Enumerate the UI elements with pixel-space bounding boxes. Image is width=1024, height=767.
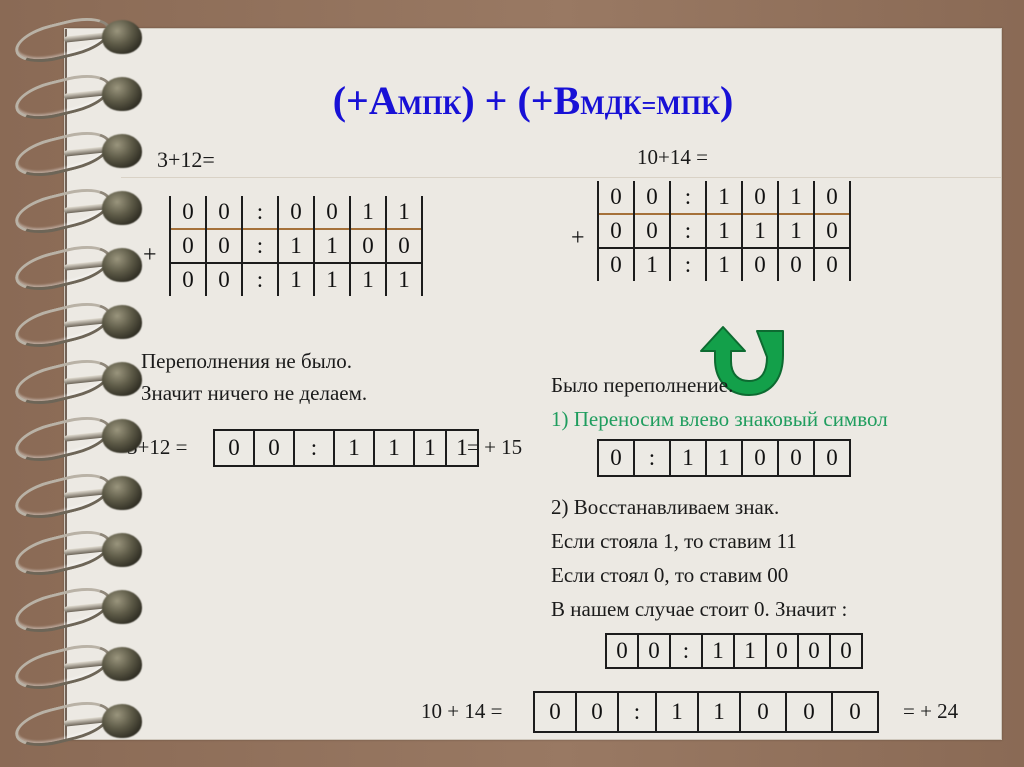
cell: 0 <box>598 181 634 214</box>
spiral-coil <box>6 299 126 357</box>
left-note-line-1: Переполнения не было. <box>141 349 352 374</box>
cell: 0 <box>215 431 255 465</box>
cell: 1 <box>350 263 386 296</box>
coil-wire <box>11 11 115 70</box>
right-step1-label: 1) Переносим влево знаковый символ <box>551 407 888 432</box>
cell: : <box>242 229 278 263</box>
cell: 1 <box>415 431 447 465</box>
left-heading: 3+12= <box>157 147 215 173</box>
spiral-coil <box>6 641 126 699</box>
cell: 0 <box>314 196 350 229</box>
cell: 0 <box>634 181 670 214</box>
right-addition-table: 0 0 : 1 0 1 0 0 0 : 1 1 1 0 <box>597 181 851 281</box>
coil-wire <box>11 125 115 184</box>
left-note-line-2: Значит ничего не делаем. <box>141 381 367 406</box>
right-step2-line-2: Если стояла 1, то ставим 11 <box>551 529 797 554</box>
left-addition-table: 0 0 : 0 0 1 1 0 0 : 1 1 0 0 <box>169 196 423 296</box>
coil-wire <box>11 239 115 298</box>
coil-wire <box>11 68 115 127</box>
right-result-label: 10 + 14 = <box>421 699 502 724</box>
coil-wire <box>11 581 115 640</box>
spiral-coil <box>6 128 126 186</box>
cell: : <box>295 431 335 465</box>
title-part-end: ) <box>720 78 733 123</box>
cell: 1 <box>314 263 350 296</box>
left-result-value: = + 15 <box>467 435 522 460</box>
cell: 0 <box>170 263 206 296</box>
coil-bead <box>102 476 142 510</box>
title-subscript-mpk: МПК <box>398 91 462 120</box>
page-title: (+АМПК) + (+ВМДК=МПК) <box>65 77 1001 124</box>
cell: 0 <box>799 635 831 667</box>
spiral-coil <box>6 470 126 528</box>
coil-bead <box>102 20 142 54</box>
cell: : <box>242 263 278 296</box>
title-part-mid: ) + (+В <box>461 78 580 123</box>
coil-wire <box>11 296 115 355</box>
cell: 0 <box>742 181 778 214</box>
right-result-value: = + 24 <box>903 699 958 724</box>
coil-wire <box>11 524 115 583</box>
spiral-coil <box>6 527 126 585</box>
cell: 1 <box>699 693 741 731</box>
coil-bead <box>102 590 142 624</box>
cell: 0 <box>598 248 634 281</box>
cell: 0 <box>779 441 815 475</box>
table-row: 0 0 : 1 1 1 1 <box>170 263 422 296</box>
coil-wire <box>11 638 115 697</box>
coil-wire <box>11 467 115 526</box>
right-overflow-note: Было переполнение. <box>551 373 733 398</box>
cell: 0 <box>743 441 779 475</box>
cell: : <box>635 441 671 475</box>
coil-bead <box>102 134 142 168</box>
cell: 1 <box>706 181 742 214</box>
cell: 1 <box>735 635 767 667</box>
right-heading: 10+14 = <box>637 145 708 170</box>
cell: 1 <box>703 635 735 667</box>
left-result-strip: 0 0 : 1 1 1 1 <box>213 429 479 467</box>
coil-wire <box>11 353 115 412</box>
cell: 0 <box>767 635 799 667</box>
cell: : <box>242 196 278 229</box>
cell: 0 <box>741 693 787 731</box>
cell: 1 <box>671 441 707 475</box>
left-plus-sign: + <box>143 242 157 269</box>
cell: 0 <box>350 229 386 263</box>
spiral-coil <box>6 584 126 642</box>
table-row: 0 1 : 1 0 0 0 <box>598 248 850 281</box>
cell: 0 <box>833 693 877 731</box>
coil-bead <box>102 305 142 339</box>
cell: 0 <box>742 248 778 281</box>
coil-bead <box>102 533 142 567</box>
cell: 0 <box>577 693 619 731</box>
header-divider <box>121 177 1001 178</box>
cell: 0 <box>814 181 850 214</box>
right-step2-line-4: В нашем случае стоит 0. Значит : <box>551 597 847 622</box>
cell: 0 <box>607 635 639 667</box>
cell: : <box>619 693 657 731</box>
title-subscript-mdk-mpk: МДК=МПК <box>580 91 720 120</box>
cell: 0 <box>206 196 242 229</box>
table-row: 0 0 : 1 0 1 0 <box>598 181 850 214</box>
cell: 1 <box>778 214 814 248</box>
cell: 0 <box>170 196 206 229</box>
cell: 1 <box>278 229 314 263</box>
cell: 0 <box>815 441 849 475</box>
cell: 1 <box>706 248 742 281</box>
cell: 1 <box>314 229 350 263</box>
coil-wire <box>11 695 115 754</box>
cell: 0 <box>386 229 422 263</box>
cell: : <box>670 214 706 248</box>
right-plus-sign: + <box>571 225 585 252</box>
cell: 1 <box>386 196 422 229</box>
cell: 0 <box>814 214 850 248</box>
coil-bead <box>102 647 142 681</box>
cell: 0 <box>787 693 833 731</box>
spiral-coil <box>6 185 126 243</box>
coil-bead <box>102 77 142 111</box>
coil-bead <box>102 362 142 396</box>
cell: : <box>671 635 703 667</box>
cell: 1 <box>278 263 314 296</box>
coil-bead <box>102 191 142 225</box>
cell: : <box>670 181 706 214</box>
table-row: 0 0 : 1 1 0 0 <box>170 229 422 263</box>
cell: 1 <box>706 214 742 248</box>
spiral-coil <box>6 71 126 129</box>
cell: 0 <box>278 196 314 229</box>
cell: 1 <box>375 431 415 465</box>
notebook-page: (+АМПК) + (+ВМДК=МПК) 3+12= + 0 0 : 0 0 … <box>64 28 1002 740</box>
cell: 1 <box>634 248 670 281</box>
title-part-a: (+А <box>333 78 398 123</box>
cell: 1 <box>335 431 375 465</box>
cell: 0 <box>255 431 295 465</box>
cell: 1 <box>386 263 422 296</box>
page-content: (+АМПК) + (+ВМДК=МПК) 3+12= + 0 0 : 0 0 … <box>65 29 1001 739</box>
coil-bead <box>102 419 142 453</box>
cell: 0 <box>598 214 634 248</box>
coil-bead <box>102 704 142 738</box>
cell: 0 <box>206 263 242 296</box>
cell: 0 <box>634 214 670 248</box>
cell: 0 <box>535 693 577 731</box>
cell: 0 <box>778 248 814 281</box>
cell: 0 <box>639 635 671 667</box>
cell: 1 <box>350 196 386 229</box>
spiral-coil <box>6 14 126 72</box>
cell: : <box>670 248 706 281</box>
spiral-coil <box>6 698 126 756</box>
cell: 0 <box>599 441 635 475</box>
cell: 0 <box>831 635 861 667</box>
table-row: 0 0 : 0 0 1 1 <box>170 196 422 229</box>
right-step2-strip: 0 0 : 1 1 0 0 0 <box>605 633 863 669</box>
cell: 0 <box>206 229 242 263</box>
coil-wire <box>11 410 115 469</box>
cell: 1 <box>778 181 814 214</box>
table-row: 0 0 : 1 1 1 0 <box>598 214 850 248</box>
right-step2-line-1: 2) Восстанавливаем знак. <box>551 495 779 520</box>
cell: 0 <box>170 229 206 263</box>
right-result-strip: 0 0 : 1 1 0 0 0 <box>533 691 879 733</box>
spiral-coil <box>6 413 126 471</box>
cell: 1 <box>657 693 699 731</box>
cell: 1 <box>742 214 778 248</box>
coil-bead <box>102 248 142 282</box>
right-step2-line-3: Если стоял 0, то ставим 00 <box>551 563 788 588</box>
spiral-coil <box>6 356 126 414</box>
right-step1-strip: 0 : 1 1 0 0 0 <box>597 439 851 477</box>
cell: 1 <box>707 441 743 475</box>
coil-wire <box>11 182 115 241</box>
slide-canvas: (+АМПК) + (+ВМДК=МПК) 3+12= + 0 0 : 0 0 … <box>0 0 1024 767</box>
cell: 0 <box>814 248 850 281</box>
spiral-coil <box>6 242 126 300</box>
spiral-binding <box>0 0 132 767</box>
